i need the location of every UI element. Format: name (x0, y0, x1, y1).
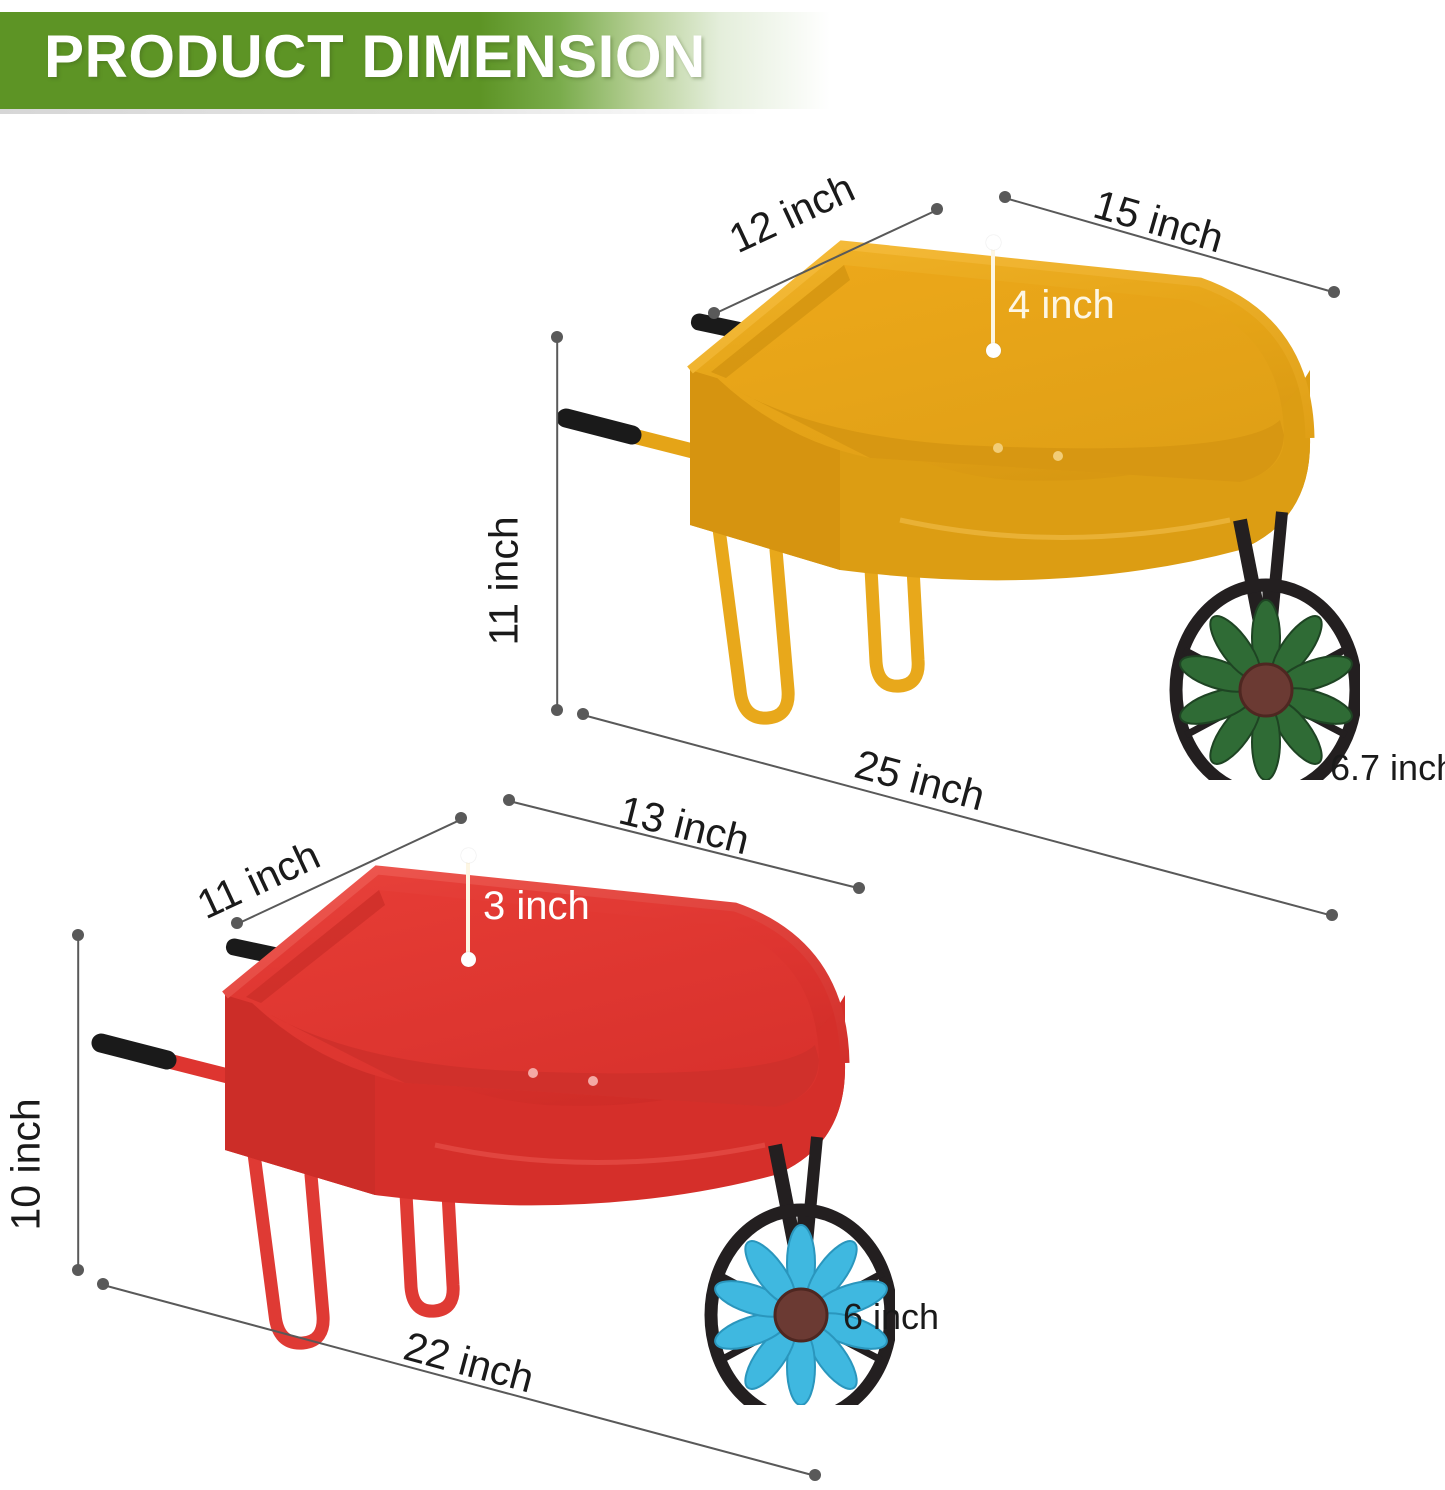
tray-body (690, 245, 1310, 580)
dimension-label-yellow-tray-height: 4 inch (1008, 283, 1115, 328)
dimension-label-red-tray-height: 3 inch (483, 884, 590, 929)
dimension-endpoint-dot (1326, 909, 1338, 921)
dimension-endpoint-dot (931, 203, 943, 215)
dimension-endpoint-dot-white (986, 235, 1001, 250)
dimension-label-red-wheel: 6 inch (843, 1296, 939, 1338)
dimension-endpoint-dot (551, 331, 563, 343)
dimension-endpoint-dot (1328, 286, 1340, 298)
dimension-line-yellow-tray-height (991, 244, 995, 356)
dimension-endpoint-dot (455, 812, 467, 824)
dimension-endpoint-dot (999, 191, 1011, 203)
dimension-line-red-height (77, 936, 79, 1272)
red-wheelbarrow-illustration (75, 845, 895, 1405)
dimension-endpoint-dot (708, 307, 720, 319)
dimension-endpoint-dot (503, 794, 515, 806)
dimension-label-yellow-height: 11 inch (481, 516, 528, 645)
dimension-endpoint-dot (72, 929, 84, 941)
dimension-endpoint-dot (72, 1264, 84, 1276)
yellow-wheelbarrow-illustration (540, 220, 1360, 780)
dimension-endpoint-dot-white (461, 952, 476, 967)
dimension-label-yellow-wheel: 6.7 inch (1330, 747, 1445, 789)
dimension-label-red-height: 10 inch (3, 1098, 50, 1230)
dimension-endpoint-dot (853, 882, 865, 894)
dimension-endpoint-dot-white (986, 343, 1001, 358)
product-dimension-infographic: PRODUCT DIMENSION (0, 0, 1445, 1490)
dimension-endpoint-dot (809, 1469, 821, 1481)
page-title: PRODUCT DIMENSION (44, 22, 706, 91)
dimension-endpoint-dot (97, 1278, 109, 1290)
dimension-endpoint-dot (577, 708, 589, 720)
dimension-line-yellow-height (556, 338, 558, 712)
dimension-endpoint-dot (551, 704, 563, 716)
dimension-endpoint-dot-white (461, 848, 476, 863)
dimension-endpoint-dot (231, 917, 243, 929)
header-banner-shadow (0, 109, 1010, 114)
wheel-with-flower (1176, 585, 1356, 780)
yellow-wheelbarrow-planter (540, 220, 1360, 780)
dimension-line-red-tray-height (466, 857, 470, 965)
red-wheelbarrow-planter (75, 845, 895, 1405)
